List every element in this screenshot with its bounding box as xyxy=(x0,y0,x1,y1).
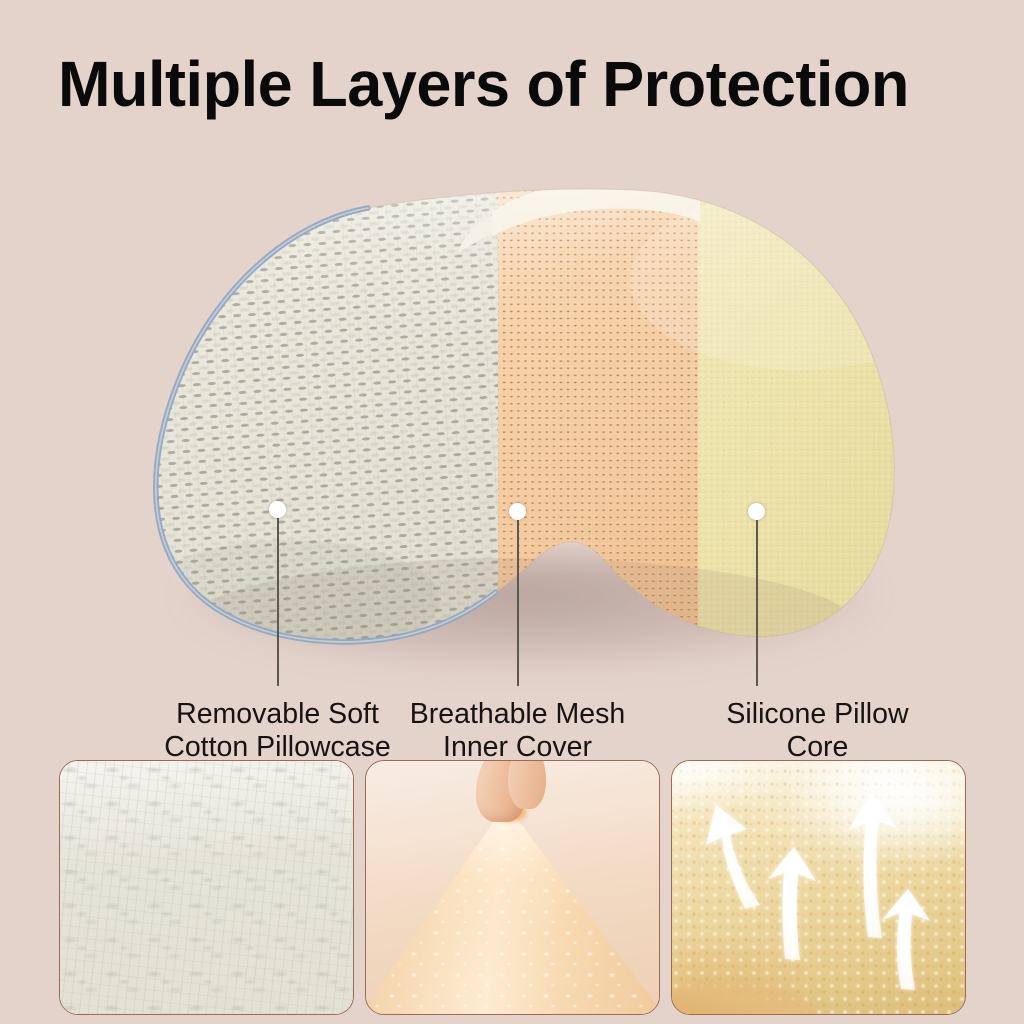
product-illustration xyxy=(140,160,900,665)
callout-dot-cotton[interactable] xyxy=(269,501,286,518)
thumbnail-foam-airflow[interactable] xyxy=(671,760,966,1015)
page-title: Multiple Layers of Protection xyxy=(58,52,964,116)
arrow-group xyxy=(706,793,930,990)
label-breathable-mesh: Breathable Mesh Inner Cover xyxy=(355,698,680,765)
airflow-arrow-4 xyxy=(882,889,930,990)
label-silicone-core: Silicone Pillow Core xyxy=(655,698,980,765)
infographic-canvas: Multiple Layers of Protection xyxy=(0,0,1024,1024)
label-core-line1: Silicone Pillow xyxy=(655,698,980,731)
callout-line-cotton xyxy=(277,516,279,686)
callout-dot-mesh[interactable] xyxy=(509,503,526,520)
callout-line-core xyxy=(756,518,758,686)
foam-core-photo xyxy=(672,761,965,1014)
mesh-stretch-photo xyxy=(366,761,659,1014)
label-mesh-line1: Breathable Mesh xyxy=(355,698,680,731)
cotton-weave-photo xyxy=(60,761,353,1014)
airflow-arrow-1 xyxy=(706,805,760,909)
callout-line-mesh xyxy=(517,518,519,686)
airflow-arrows xyxy=(672,761,965,1014)
thumbnail-cotton-weave[interactable] xyxy=(59,760,354,1015)
callout-dot-core[interactable] xyxy=(748,503,765,520)
airflow-arrow-2 xyxy=(768,847,816,960)
pillow-cutaway xyxy=(140,160,900,665)
finger-index xyxy=(508,760,546,809)
thumbnail-mesh-stretch[interactable] xyxy=(365,760,660,1015)
